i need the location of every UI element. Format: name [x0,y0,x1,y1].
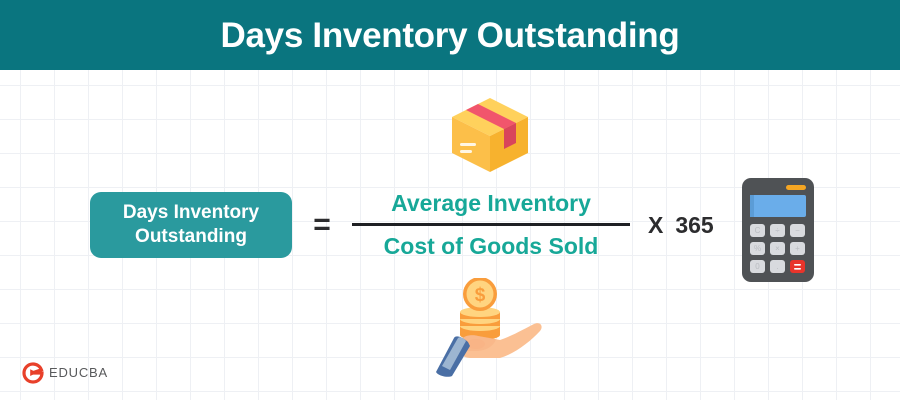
fraction-bar [352,223,630,226]
formula-fraction: Average Inventory Cost of Goods Sold [350,186,632,270]
package-box-icon [448,95,532,175]
svg-text:×: × [775,244,780,253]
svg-text:÷: ÷ [775,226,780,235]
fraction-numerator: Average Inventory [350,186,632,220]
educba-logo-mark [22,362,44,384]
educba-logo-text: EDUCBA [49,362,108,384]
multiply-operator: X [648,212,663,238]
svg-text:+: + [795,244,800,253]
formula-label-line-1: Days Inventory [123,201,259,225]
educba-logo[interactable]: EDUCBA [22,362,108,384]
formula-label-box: Days Inventory Outstanding [90,192,292,258]
svg-text:.: . [776,262,778,271]
svg-text:−: − [795,226,800,235]
infographic-canvas: Days Inventory Outstanding Days Inventor… [0,0,900,400]
svg-text:0: 0 [755,262,760,271]
dollar-sign-glyph: $ [475,285,486,306]
svg-text:%: % [754,244,761,253]
fraction-denominator: Cost of Goods Sold [350,229,632,263]
hand-with-coins-icon: $ [434,278,546,378]
svg-text:C: C [755,226,761,235]
page-title: Days Inventory Outstanding [221,18,680,53]
formula-label-line-2: Outstanding [135,225,247,249]
equals-sign: = [308,209,336,241]
calculator-icon: C ÷ − % × + 0 . [742,178,814,282]
multiplier-group: X365 [648,209,714,241]
multiplier-value: 365 [675,212,713,238]
header-bar: Days Inventory Outstanding [0,0,900,70]
